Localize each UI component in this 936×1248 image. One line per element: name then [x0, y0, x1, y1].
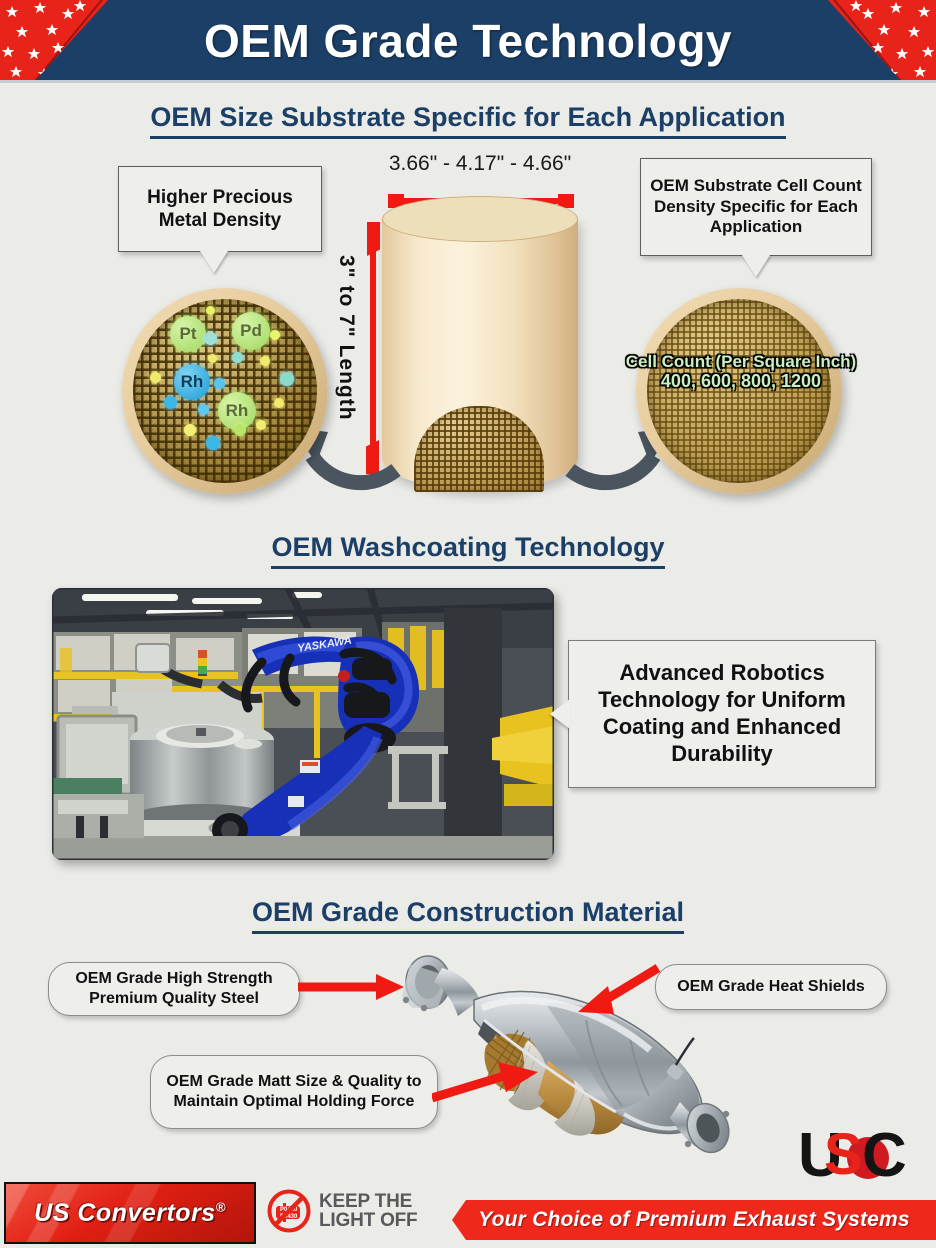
page-title: OEM Grade Technology: [0, 0, 936, 82]
cell-count-overlay: Cell Count (Per Square Inch) 400, 600, 8…: [596, 352, 886, 391]
callout-cell-count-text: OEM Substrate Cell Count Density Specifi…: [649, 176, 863, 238]
particle-dot: [206, 436, 220, 450]
particle-dot: [274, 398, 284, 408]
keep-light-off-text: KEEP THE LIGHT OFF: [319, 1192, 417, 1231]
registered-mark: ®: [216, 1199, 226, 1214]
circle-honeycomb-mesh-left: [133, 299, 317, 483]
callout-heat-shields: OEM Grade Heat Shields: [655, 964, 887, 1010]
arrow-to-matt: [432, 1058, 538, 1104]
particle-dot: [208, 354, 217, 363]
callout-premium-quality-steel: OEM Grade High Strength Premium Quality …: [48, 962, 300, 1016]
particle-dot: [270, 330, 280, 340]
particle-label-pd: Pd: [232, 312, 270, 350]
particle-dot: [256, 420, 266, 430]
svg-text:C: C: [862, 1121, 907, 1184]
particle-dot: [206, 306, 215, 315]
particle-dot: [204, 332, 217, 345]
footer-tagline-banner: Your Choice of Premium Exhaust Systems: [452, 1200, 936, 1240]
particle-label-rh-blue: Rh: [174, 364, 210, 400]
washcoating-robot-photo: YASKAWA: [52, 588, 554, 860]
particle-label-pt: Pt: [170, 316, 206, 352]
substrate-cylinder-illustration: [382, 196, 578, 496]
keep-light-line-2: LIGHT OFF: [319, 1211, 417, 1230]
no-check-engine-light-icon: P0420 P0430: [266, 1188, 312, 1234]
callout-density-text: Higher Precious Metal Density: [127, 186, 313, 232]
arrow-to-heat-shields: [578, 962, 662, 1018]
callout-advanced-robotics: Advanced Robotics Technology for Uniform…: [568, 640, 876, 788]
cylinder-honeycomb-top: [382, 196, 578, 242]
section-heading-washcoating: OEM Washcoating Technology: [0, 532, 936, 563]
keep-the-light-off-badge: P0420 P0430 KEEP THE LIGHT OFF: [266, 1188, 417, 1234]
callout-robotics-tail: [550, 699, 570, 729]
particle-dot: [150, 372, 161, 383]
callout-higher-precious-metal-density: Higher Precious Metal Density: [118, 166, 322, 252]
page-header: OEM Grade Technology: [0, 0, 936, 82]
particle-dot: [232, 352, 243, 363]
section-heading-substrate-text: OEM Size Substrate Specific for Each App…: [150, 102, 785, 139]
particle-dot: [198, 404, 209, 415]
particle-dot: [164, 396, 177, 409]
section-heading-construction-text: OEM Grade Construction Material: [252, 897, 684, 934]
us-convertors-wordmark: US Convertors®: [34, 1199, 226, 1228]
cell-count-values: 400, 600, 800, 1200: [596, 371, 886, 391]
arrow-to-steel: [298, 972, 404, 1002]
header-divider: [0, 80, 936, 83]
callout-cell-count-density: OEM Substrate Cell Count Density Specifi…: [640, 158, 872, 256]
svg-text:S: S: [824, 1122, 863, 1184]
keep-light-line-1: KEEP THE: [319, 1192, 417, 1211]
footer-tagline-text: Your Choice of Premium Exhaust Systems: [478, 1208, 910, 1232]
us-convertors-logo-badge: US Convertors®: [4, 1182, 256, 1244]
section-heading-construction: OEM Grade Construction Material: [0, 897, 936, 928]
section-heading-substrate: OEM Size Substrate Specific for Each App…: [0, 102, 936, 133]
callout-steel-text: OEM Grade High Strength Premium Quality …: [61, 969, 287, 1009]
section-heading-washcoating-text: OEM Washcoating Technology: [271, 532, 664, 569]
callout-matt-holding-force: OEM Grade Matt Size & Quality to Maintai…: [150, 1055, 438, 1129]
substrate-detail-precious-metals: Pt Pd Rh Rh: [122, 288, 328, 494]
particle-dot: [280, 372, 294, 386]
cell-count-title: Cell Count (Per Square Inch): [596, 352, 886, 371]
callout-robotics-text: Advanced Robotics Technology for Uniform…: [577, 660, 867, 767]
callout-matt-text: OEM Grade Matt Size & Quality to Maintai…: [163, 1072, 425, 1112]
particle-dot: [214, 378, 225, 389]
particle-dot: [234, 424, 246, 436]
callout-density-tail: [200, 251, 228, 273]
diameter-label: 3.66" - 4.17" - 4.66": [340, 152, 620, 176]
usc-logo: U S C: [798, 1118, 924, 1184]
callout-heat-shields-text: OEM Grade Heat Shields: [677, 977, 865, 997]
particle-dot: [260, 356, 270, 366]
brand-name: US Convertors: [34, 1199, 216, 1227]
callout-cell-count-tail: [742, 255, 770, 277]
particle-dot: [184, 424, 196, 436]
